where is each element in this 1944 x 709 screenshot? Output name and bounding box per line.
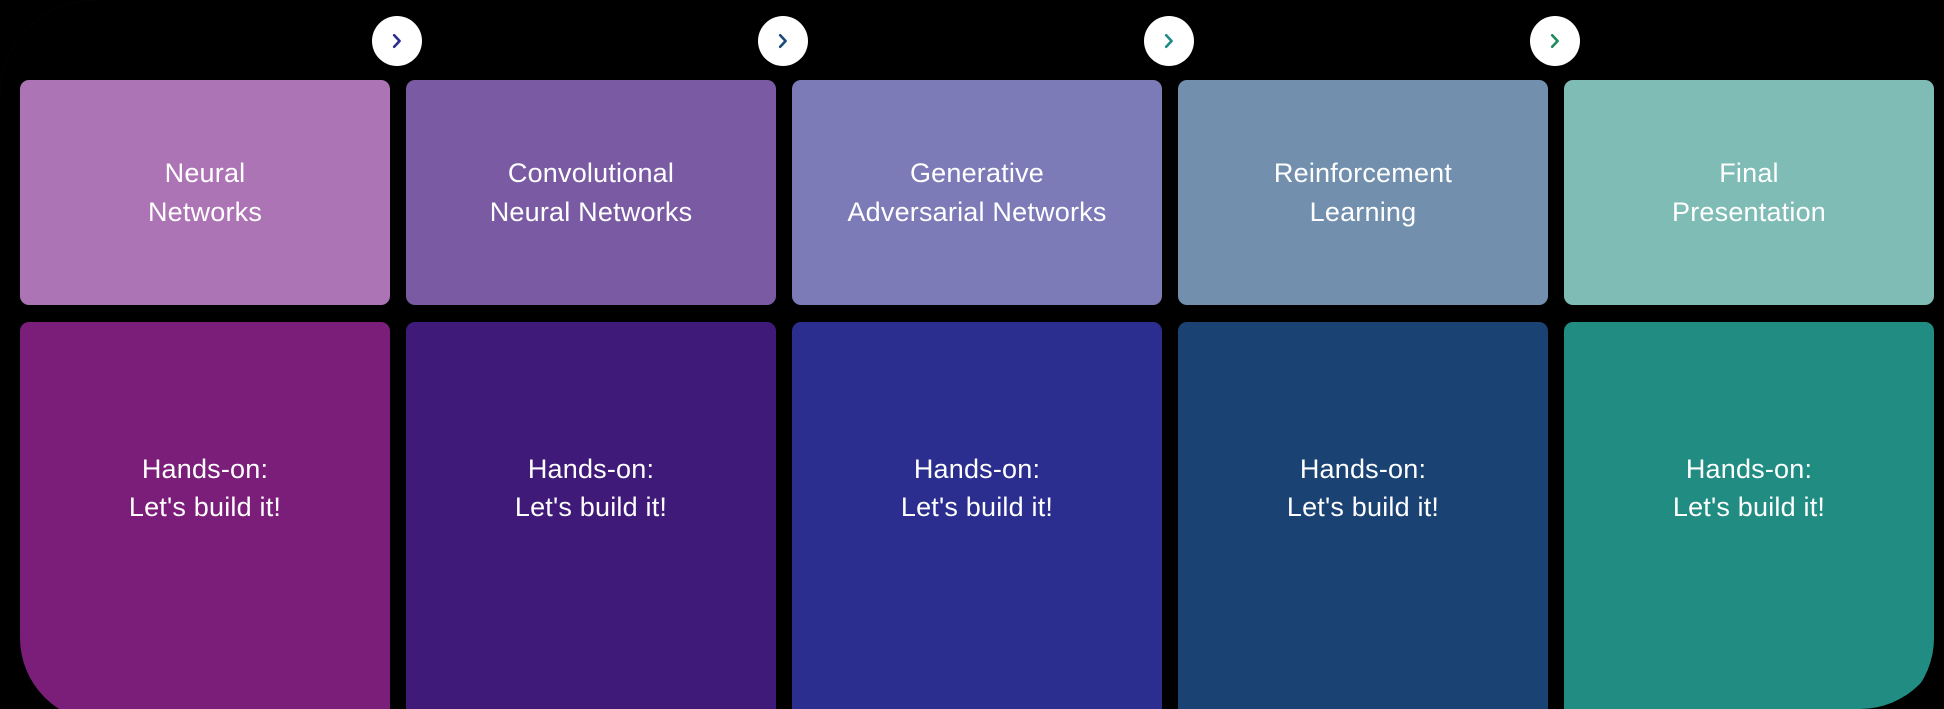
hands-on-card-line: Let's build it!	[901, 488, 1053, 526]
topic-card-line: Neural	[165, 154, 246, 192]
roadmap-container: NeuralNetworksConvolutionalNeural Networ…	[0, 0, 1944, 709]
topic-card[interactable]: FinalPresentation	[1564, 80, 1934, 305]
topic-card[interactable]: ConvolutionalNeural Networks	[406, 80, 776, 305]
chevron-right-icon	[1545, 31, 1565, 51]
topic-card-line: Learning	[1310, 193, 1417, 231]
chevron-right-icon	[387, 31, 407, 51]
topics-row: NeuralNetworksConvolutionalNeural Networ…	[20, 80, 1934, 305]
topic-card[interactable]: NeuralNetworks	[20, 80, 390, 305]
hands-on-card[interactable]: Hands-on:Let's build it!	[1178, 322, 1548, 709]
hands-on-card-line: Hands-on:	[914, 450, 1040, 488]
topic-card[interactable]: ReinforcementLearning	[1178, 80, 1548, 305]
topic-card-line: Generative	[910, 154, 1044, 192]
hands-on-card-line: Hands-on:	[1300, 450, 1426, 488]
chevron-right-icon	[773, 31, 793, 51]
hands-on-card-line: Hands-on:	[142, 450, 268, 488]
hands-on-card[interactable]: Hands-on:Let's build it!	[406, 322, 776, 709]
topic-card-line: Networks	[148, 193, 262, 231]
hands-on-card[interactable]: Hands-on:Let's build it!	[20, 322, 390, 709]
hands-on-card-line: Hands-on:	[1686, 450, 1812, 488]
chevron-right-icon	[1159, 31, 1179, 51]
hands-on-card-line: Let's build it!	[1673, 488, 1825, 526]
hands-on-row: Hands-on:Let's build it!Hands-on:Let's b…	[20, 322, 1934, 709]
hands-on-card-line: Hands-on:	[528, 450, 654, 488]
hands-on-card-line: Let's build it!	[515, 488, 667, 526]
topic-card-line: Adversarial Networks	[847, 193, 1106, 231]
hands-on-card-line: Let's build it!	[129, 488, 281, 526]
connector-next-button-1[interactable]	[372, 16, 422, 66]
hands-on-card[interactable]: Hands-on:Let's build it!	[1564, 322, 1934, 709]
connector-next-button-2[interactable]	[758, 16, 808, 66]
hands-on-card-line: Let's build it!	[1287, 488, 1439, 526]
topic-card-line: Reinforcement	[1274, 154, 1452, 192]
topic-card-line: Presentation	[1672, 193, 1826, 231]
topic-card-line: Final	[1719, 154, 1779, 192]
connector-next-button-3[interactable]	[1144, 16, 1194, 66]
topic-card-line: Neural Networks	[490, 193, 693, 231]
connector-next-button-4[interactable]	[1530, 16, 1580, 66]
topic-card[interactable]: GenerativeAdversarial Networks	[792, 80, 1162, 305]
topic-card-line: Convolutional	[508, 154, 674, 192]
hands-on-card[interactable]: Hands-on:Let's build it!	[792, 322, 1162, 709]
